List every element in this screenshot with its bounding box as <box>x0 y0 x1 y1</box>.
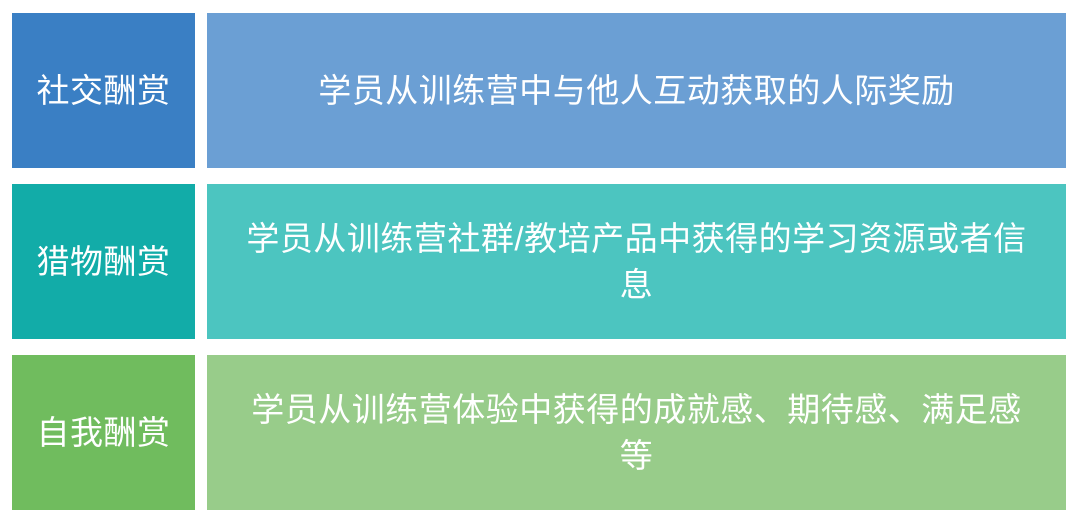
row-description-prey-reward: 学员从训练营社群/教培产品中获得的学习资源或者信息 <box>207 184 1066 339</box>
row-description-text: 学员从训练营中与他人互动获取的人际奖励 <box>241 68 1032 114</box>
row-description-text: 学员从训练营体验中获得的成就感、期待感、满足感等 <box>241 387 1032 478</box>
table-row: 猎物酬赏 学员从训练营社群/教培产品中获得的学习资源或者信息 <box>12 184 1066 339</box>
row-label-text: 猎物酬赏 <box>28 240 179 284</box>
row-label-text: 社交酬赏 <box>28 69 179 113</box>
row-label-text: 自我酬赏 <box>28 411 179 455</box>
table-row: 社交酬赏 学员从训练营中与他人互动获取的人际奖励 <box>12 13 1066 168</box>
row-label-prey-reward: 猎物酬赏 <box>12 184 195 339</box>
row-description-text: 学员从训练营社群/教培产品中获得的学习资源或者信息 <box>241 216 1032 307</box>
row-label-self-reward: 自我酬赏 <box>12 355 195 510</box>
row-gap-spacer <box>195 13 207 168</box>
row-description-self-reward: 学员从训练营体验中获得的成就感、期待感、满足感等 <box>207 355 1066 510</box>
row-label-social-reward: 社交酬赏 <box>12 13 195 168</box>
table-row: 自我酬赏 学员从训练营体验中获得的成就感、期待感、满足感等 <box>12 355 1066 510</box>
row-gap-spacer <box>195 355 207 510</box>
row-description-social-reward: 学员从训练营中与他人互动获取的人际奖励 <box>207 13 1066 168</box>
reward-types-table: 社交酬赏 学员从训练营中与他人互动获取的人际奖励 猎物酬赏 学员从训练营社群/教… <box>0 0 1080 524</box>
row-gap-spacer <box>195 184 207 339</box>
